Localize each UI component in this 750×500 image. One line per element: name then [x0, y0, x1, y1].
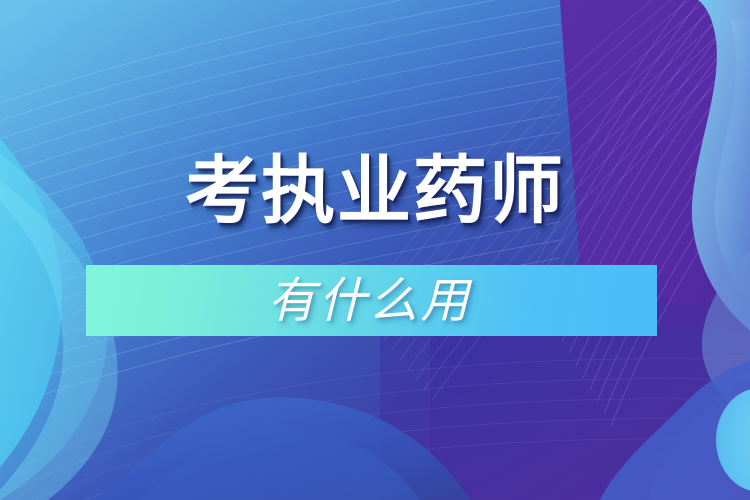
banner-content: 考执业药师 有什么用	[0, 0, 750, 500]
subtitle-text: 有什么用	[86, 277, 657, 325]
promo-banner: 考执业药师 有什么用	[0, 0, 750, 500]
main-title: 考执业药师	[0, 154, 750, 228]
subtitle-bar: 有什么用	[86, 265, 657, 336]
